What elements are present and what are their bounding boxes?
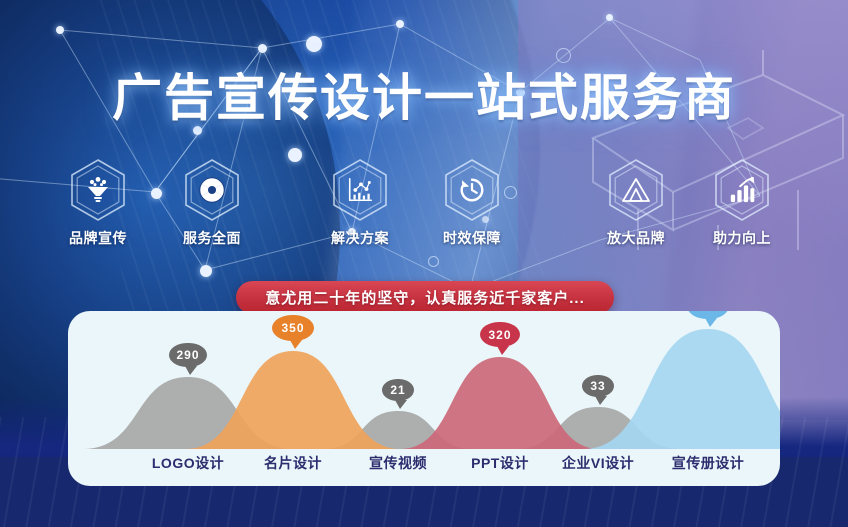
- area-chart-svg: [68, 311, 780, 449]
- chart-value-text: 350: [281, 321, 304, 335]
- hex-frame: [443, 158, 501, 222]
- network-node: [56, 26, 64, 34]
- chart-value-bubble: 33: [582, 375, 614, 397]
- chart-category-label: 宣传册设计: [648, 453, 768, 473]
- feature-label: 服务全面: [164, 228, 260, 248]
- feature-icon-row: 品牌宣传: [0, 158, 848, 250]
- feature-item-full-service[interactable]: 服务全面: [164, 158, 260, 248]
- feature-item-solutions[interactable]: 解决方案: [312, 158, 408, 248]
- promo-banner-text: 意尤用二十年的坚守，认真服务近千家客户...: [265, 287, 585, 308]
- chart-value-text: 21: [390, 383, 405, 397]
- feature-item-timeliness[interactable]: 时效保障: [424, 158, 520, 248]
- network-node: [258, 44, 267, 53]
- feature-label: 时效保障: [424, 228, 520, 248]
- aperture-icon: [198, 176, 226, 204]
- chart-value-bubble-body: 21: [382, 379, 414, 401]
- chart-value-bubble: 320: [480, 322, 520, 347]
- feature-label: 解决方案: [312, 228, 408, 248]
- chart-bubble-tail: [395, 400, 407, 409]
- feature-item-brand-promotion[interactable]: 品牌宣传: [50, 158, 146, 248]
- chart-bubble-tail: [497, 346, 509, 355]
- chart-value-bubble: 290: [169, 343, 207, 367]
- chart-category-label: LOGO设计: [128, 453, 248, 473]
- chart-value-bubble: 560: [687, 311, 729, 319]
- network-node: [606, 14, 613, 21]
- chart-bubble-tail: [290, 340, 302, 349]
- hex-frame: [607, 158, 665, 222]
- hex-frame: [183, 158, 241, 222]
- feature-label: 助力向上: [694, 228, 790, 248]
- triangle-icon: [621, 176, 651, 204]
- bar-chart-arrow-icon: [728, 175, 756, 205]
- chart-value-bubble: 21: [382, 379, 414, 401]
- chart-category-label: 名片设计: [233, 453, 353, 473]
- chart-bubble-tail: [595, 396, 607, 405]
- feature-item-amplify-brand[interactable]: 放大品牌: [588, 158, 684, 248]
- hex-frame: [331, 158, 389, 222]
- promo-banner-pill[interactable]: 意尤用二十年的坚守，认真服务近千家客户...: [236, 281, 614, 314]
- network-lines-svg: [0, 0, 848, 300]
- clock-rewind-icon: [458, 176, 486, 204]
- chart-value-bubble-body: 350: [272, 315, 314, 341]
- page-title: 广告宣传设计一站式服务商: [0, 58, 848, 130]
- chart-value-text: 320: [488, 328, 511, 342]
- chart-bubble-tail: [705, 318, 717, 327]
- chart-category-labels: LOGO设计名片设计宣传视频PPT设计企业VI设计宣传册设计: [68, 449, 780, 486]
- feature-label: 放大品牌: [588, 228, 684, 248]
- chart-value-text: 560: [696, 311, 719, 313]
- hex-frame: [69, 158, 127, 222]
- chart-panel: 2903502132033560 LOGO设计名片设计宣传视频PPT设计企业VI…: [68, 311, 780, 486]
- analytics-chart-icon: [346, 176, 374, 204]
- network-node: [200, 265, 212, 277]
- chart-value-bubble-body: 320: [480, 322, 520, 347]
- hex-frame: [713, 158, 771, 222]
- chart-value-bubble-body: 33: [582, 375, 614, 397]
- megaphone-icon: [84, 176, 112, 204]
- chart-value-text: 290: [176, 348, 199, 362]
- chart-category-label: 企业VI设计: [538, 453, 658, 473]
- network-ring: [428, 256, 439, 267]
- chart-value-bubble-body: 290: [169, 343, 207, 367]
- network-node: [306, 36, 322, 52]
- feature-item-boost-upward[interactable]: 助力向上: [694, 158, 790, 248]
- chart-value-bubble-body: 560: [687, 311, 729, 319]
- promotional-banner: 广告宣传设计一站式服务商: [0, 0, 848, 527]
- network-node: [396, 20, 404, 28]
- feature-label: 品牌宣传: [50, 228, 146, 248]
- chart-bubble-tail: [185, 366, 197, 375]
- chart-value-bubble: 350: [272, 315, 314, 341]
- chart-value-text: 33: [590, 379, 605, 393]
